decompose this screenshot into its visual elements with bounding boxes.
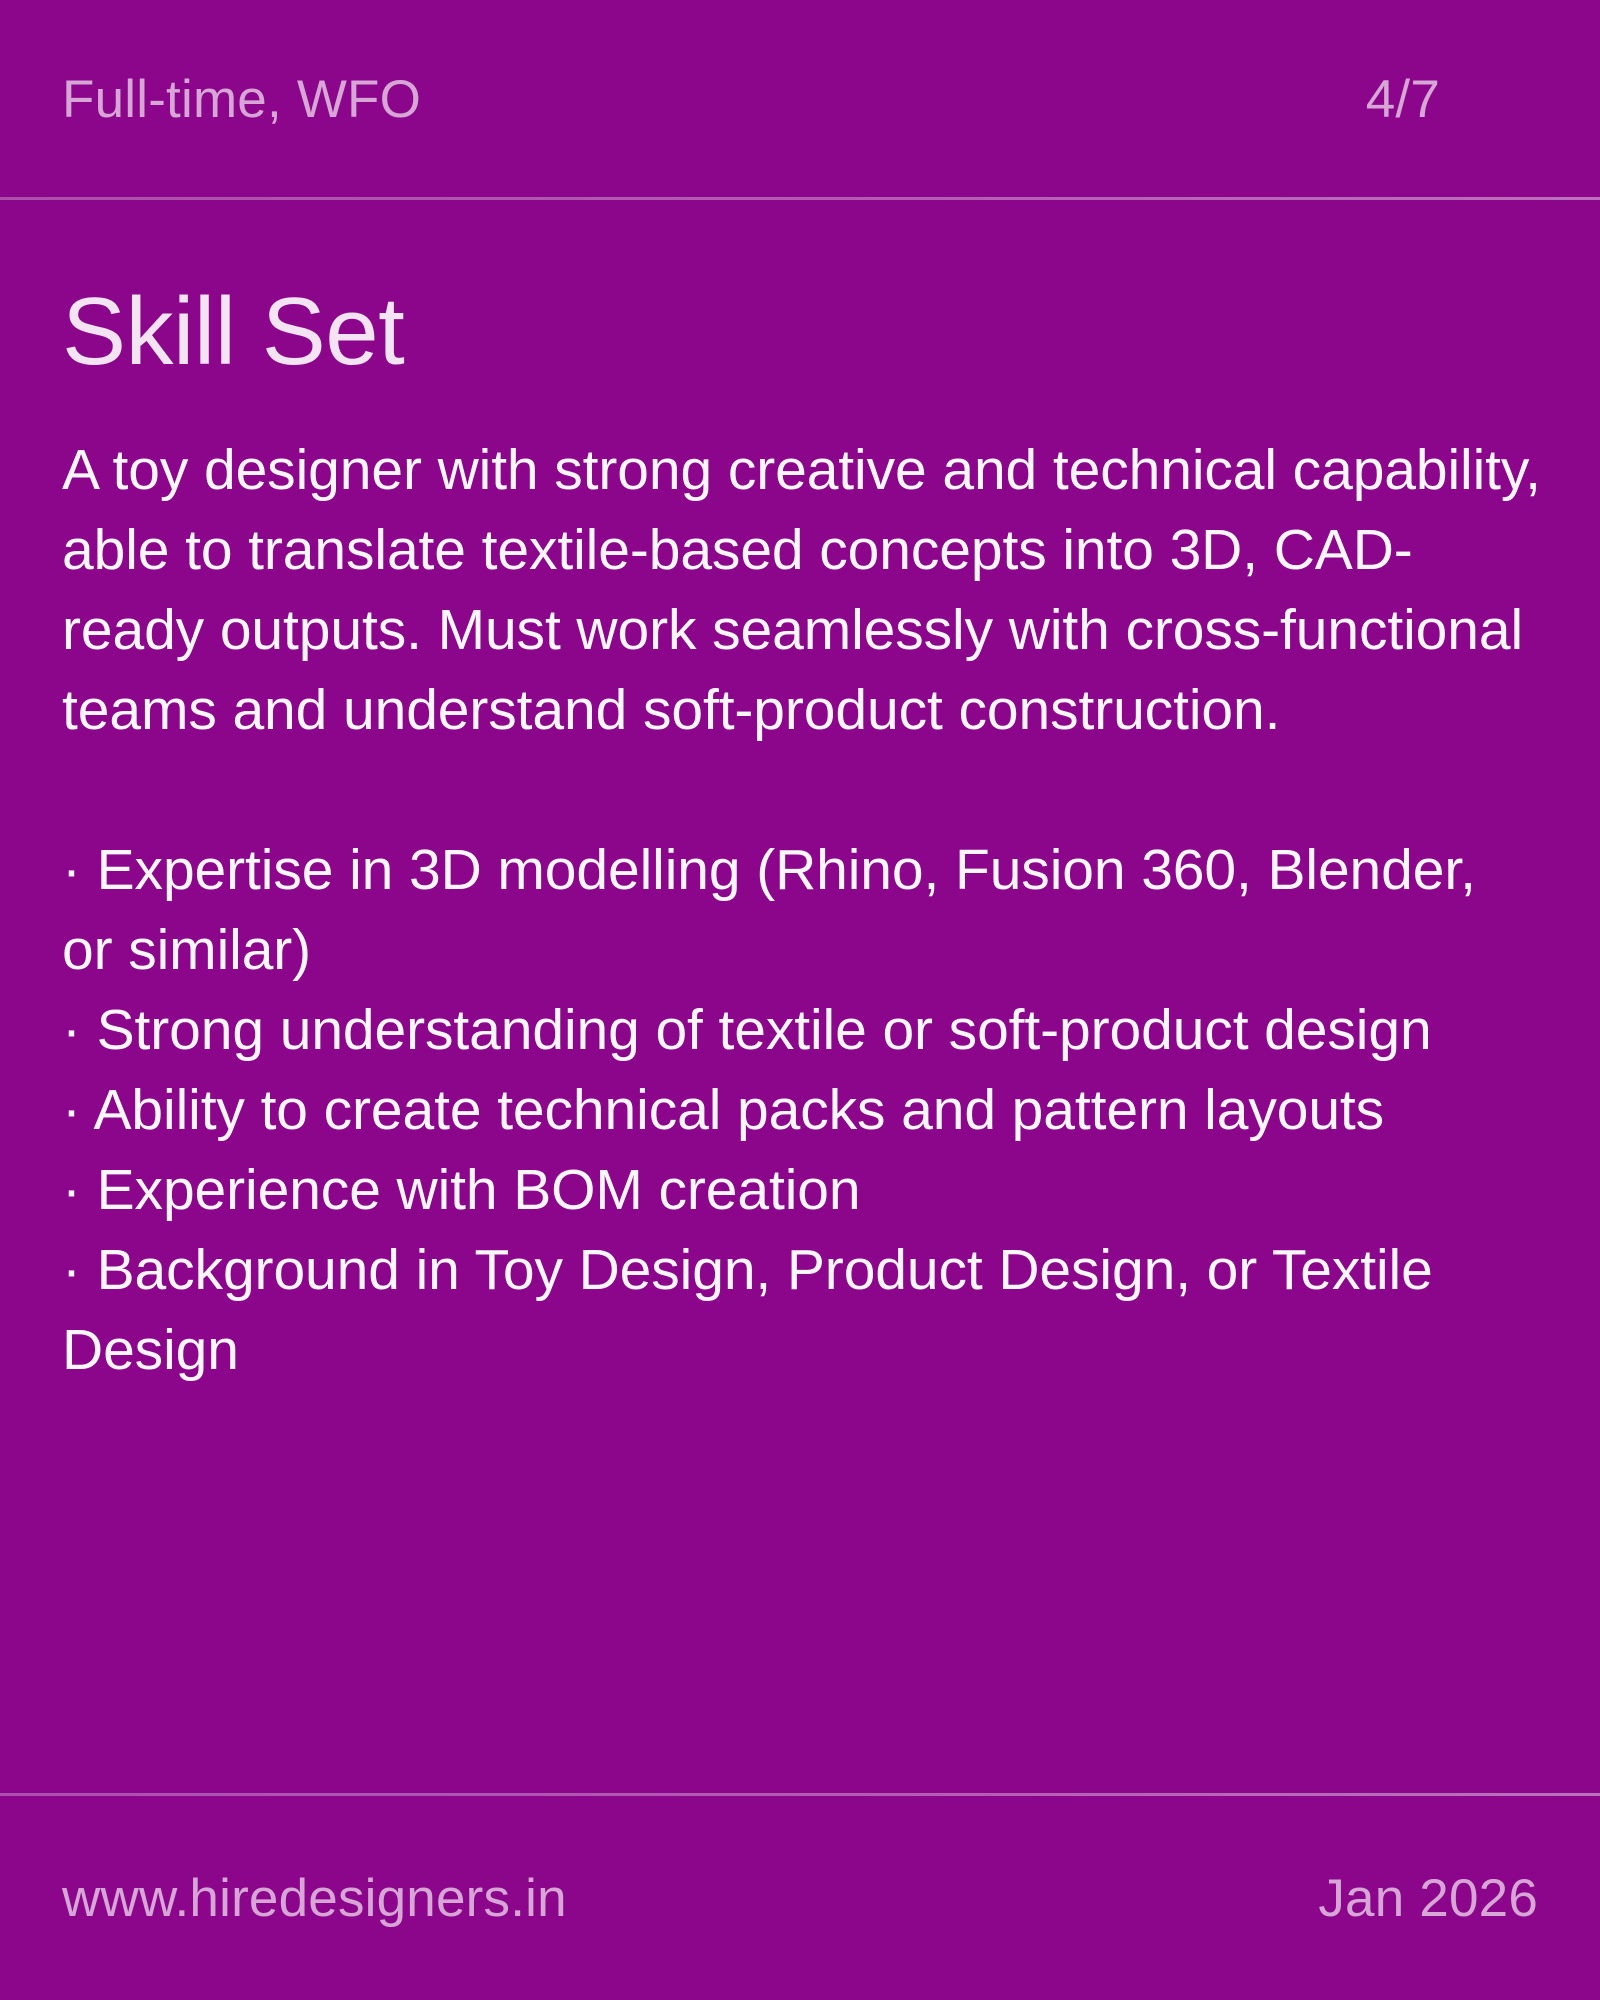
list-item-label: Expertise in 3D modelling (Rhino, Fusion… bbox=[62, 838, 1476, 982]
list-item-label: Background in Toy Design, Product Design… bbox=[62, 1238, 1433, 1382]
list-item: · Ability to create technical packs and … bbox=[62, 1070, 1542, 1150]
list-item: · Strong understanding of textile or sof… bbox=[62, 990, 1542, 1070]
bullet-icon: · bbox=[62, 998, 81, 1062]
list-item-label: Ability to create technical packs and pa… bbox=[93, 1078, 1384, 1142]
employment-type-label: Full-time, WFO bbox=[62, 73, 421, 126]
slide-footer: www.hiredesigners.in Jan 2026 bbox=[0, 1796, 1600, 2000]
skill-requirements-list: · Expertise in 3D modelling (Rhino, Fusi… bbox=[62, 830, 1542, 1390]
bullet-icon: · bbox=[62, 1078, 81, 1142]
paragraph-list-gap bbox=[62, 750, 1542, 830]
slide-header: Full-time, WFO 4/7 bbox=[0, 0, 1600, 198]
page-indicator: 4/7 bbox=[1366, 73, 1440, 126]
list-item: · Experience with BOM creation bbox=[62, 1150, 1542, 1230]
page-title: Skill Set bbox=[62, 198, 1542, 380]
bullet-icon: · bbox=[62, 1158, 81, 1222]
list-item: · Expertise in 3D modelling (Rhino, Fusi… bbox=[62, 830, 1542, 990]
bullet-icon: · bbox=[62, 838, 81, 902]
bullet-icon: · bbox=[62, 1238, 81, 1302]
website-link[interactable]: www.hiredesigners.in bbox=[62, 1872, 567, 1925]
list-item-label: Experience with BOM creation bbox=[97, 1158, 861, 1222]
slide-body: Skill Set A toy designer with strong cre… bbox=[62, 198, 1542, 1390]
list-item-label: Strong understanding of textile or soft-… bbox=[97, 998, 1432, 1062]
intro-paragraph: A toy designer with strong creative and … bbox=[62, 380, 1542, 750]
list-item: · Background in Toy Design, Product Desi… bbox=[62, 1230, 1542, 1390]
date-label: Jan 2026 bbox=[1318, 1872, 1538, 1925]
job-card-slide: Full-time, WFO 4/7 Skill Set A toy desig… bbox=[0, 0, 1600, 2000]
